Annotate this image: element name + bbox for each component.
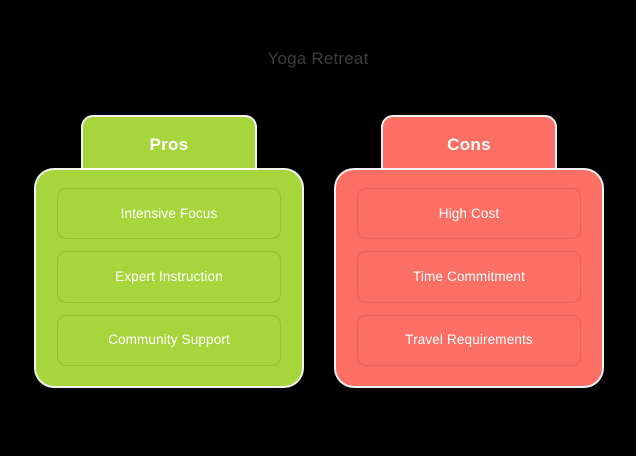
list-item-label: Expert Instruction (115, 268, 223, 286)
list-item[interactable]: Time Commitment (357, 251, 581, 302)
cons-header-tab[interactable]: Cons (383, 117, 555, 173)
pros-header-label: Pros (150, 135, 189, 155)
list-item[interactable]: Travel Requirements (357, 315, 581, 366)
list-item-label: Community Support (108, 331, 230, 349)
list-item[interactable]: Expert Instruction (57, 251, 281, 302)
pros-column: Pros Intensive Focus Expert Instruction … (36, 117, 302, 387)
list-item-label: Travel Requirements (405, 331, 533, 349)
pros-card: Intensive Focus Expert Instruction Commu… (36, 170, 302, 386)
list-item-label: High Cost (439, 205, 500, 223)
list-item-label: Intensive Focus (121, 205, 218, 223)
list-item[interactable]: Community Support (57, 315, 281, 366)
cons-column: Cons High Cost Time Commitment Travel Re… (336, 117, 602, 387)
page-title: Yoga Retreat (0, 48, 636, 70)
pros-header-tab[interactable]: Pros (83, 117, 255, 173)
list-item-label: Time Commitment (413, 268, 525, 286)
list-item[interactable]: High Cost (357, 188, 581, 239)
pros-cons-diagram: Yoga Retreat Pros Intensive Focus Expert… (0, 0, 636, 456)
list-item[interactable]: Intensive Focus (57, 188, 281, 239)
cons-header-label: Cons (447, 135, 491, 155)
cons-item-list: High Cost Time Commitment Travel Require… (357, 188, 581, 366)
cons-card: High Cost Time Commitment Travel Require… (336, 170, 602, 386)
pros-item-list: Intensive Focus Expert Instruction Commu… (57, 188, 281, 366)
